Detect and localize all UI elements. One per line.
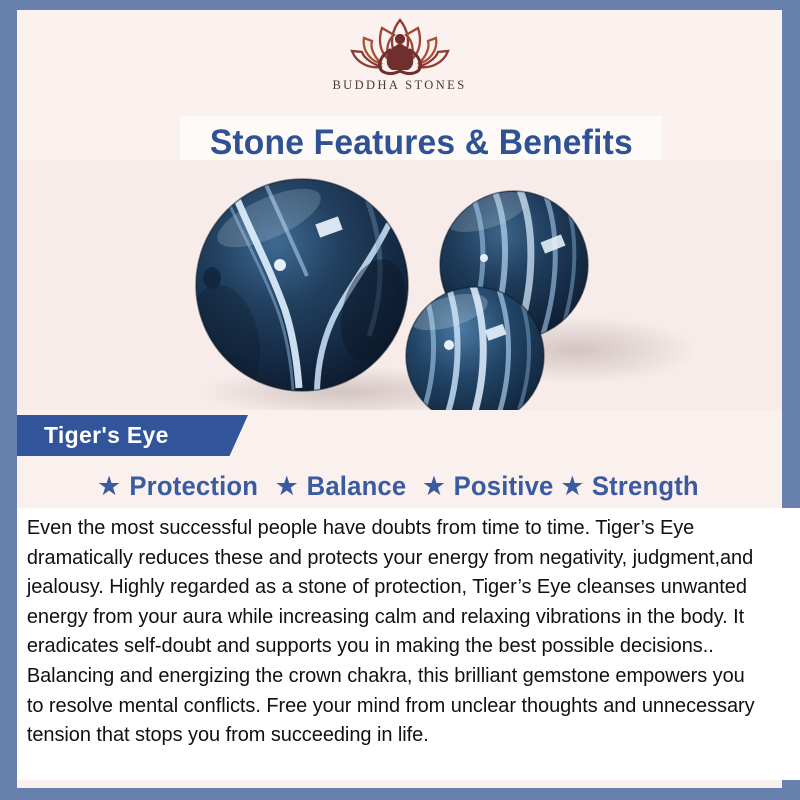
keyword-label: Positive (454, 471, 554, 502)
star-icon: ★ (275, 473, 299, 500)
description-text: Even the most successful people have dou… (17, 508, 788, 751)
frame-bottom-border (0, 788, 800, 800)
description-card: Even the most successful people have dou… (17, 508, 800, 780)
keyword-row: ★ Protection ★ Balance ★ Positive ★ Stre… (17, 466, 782, 506)
brand-logo: BUDDHA STONES (17, 14, 782, 110)
page-title: Stone Features & Benefits (209, 123, 632, 163)
stone-name-banner: Tiger's Eye (17, 415, 248, 456)
star-icon: ★ (97, 473, 121, 500)
stone-name-label: Tiger's Eye (44, 422, 169, 449)
keyword-positive: ★ Positive (422, 471, 556, 502)
keyword-label: Protection (130, 471, 259, 502)
header-section: BUDDHA STONES Stone Features & Benefits (17, 10, 782, 165)
keyword-protection: ★ Protection (97, 471, 262, 502)
keyword-strength: ★ Strength (560, 471, 702, 502)
brand-name: BUDDHA STONES (332, 78, 466, 93)
poster-root: BUDDHA STONES Stone Features & Benefits (0, 0, 800, 800)
lotus-meditation-icon (330, 14, 470, 80)
star-icon: ★ (422, 473, 446, 500)
tigers-eye-beads-illustration (17, 160, 782, 410)
star-icon: ★ (560, 473, 584, 500)
frame-top-border (0, 0, 800, 10)
keyword-label: Strength (592, 471, 699, 502)
keyword-label: Balance (307, 471, 407, 502)
keyword-balance: ★ Balance (275, 471, 409, 502)
stone-photo (17, 160, 782, 410)
frame-left-border (0, 0, 17, 800)
